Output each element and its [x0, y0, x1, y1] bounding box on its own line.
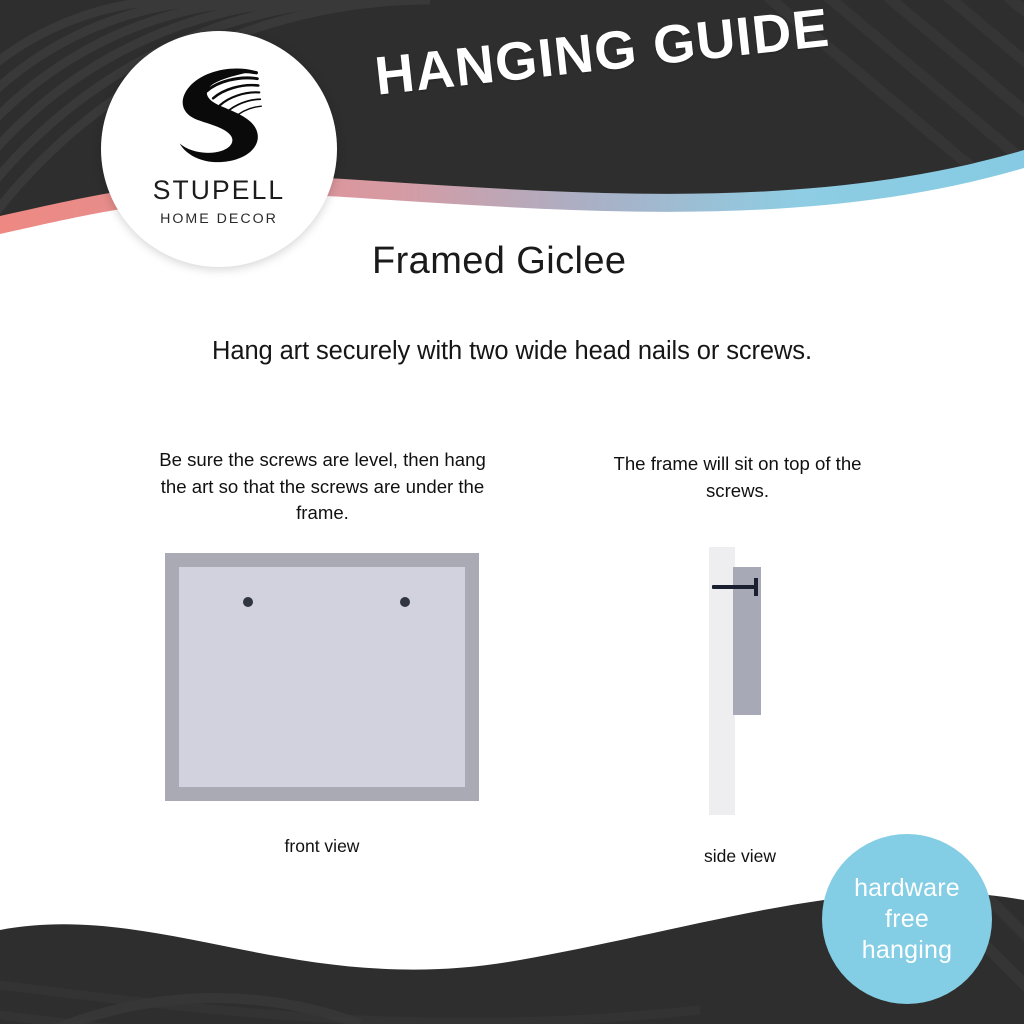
logo-wordmark: STUPELL [153, 175, 286, 206]
screw-dot-left [243, 597, 253, 607]
hardware-free-hanging-badge: hardware free hanging [822, 834, 992, 1004]
nail-head-icon [754, 578, 758, 596]
hanging-guide-page: STUPELL HOME DECOR HANGING GUIDE Framed … [0, 0, 1024, 1024]
stupell-swoosh-logo-icon [160, 59, 278, 171]
main-instruction-text: Hang art securely with two wide head nai… [0, 337, 1024, 366]
badge-line-2: free [885, 904, 929, 935]
side-view-label: side view [660, 846, 820, 867]
logo-tagline: HOME DECOR [160, 211, 278, 227]
nail-shaft-icon [712, 585, 758, 589]
front-view-caption: Be sure the screws are level, then hang … [150, 447, 495, 527]
badge-line-3: hanging [862, 935, 952, 966]
page-title: HANGING GUIDE [372, 0, 833, 108]
front-view-art-panel [179, 567, 465, 787]
screw-dot-right [400, 597, 410, 607]
side-view-frame-diagram [709, 547, 771, 815]
brand-logo-badge: STUPELL HOME DECOR [101, 31, 337, 267]
badge-line-1: hardware [854, 873, 960, 904]
front-view-label: front view [165, 836, 479, 857]
product-subtitle: Framed Giclee [372, 240, 626, 283]
front-view-frame-diagram [165, 553, 479, 801]
side-view-caption: The frame will sit on top of the screws. [595, 451, 880, 504]
